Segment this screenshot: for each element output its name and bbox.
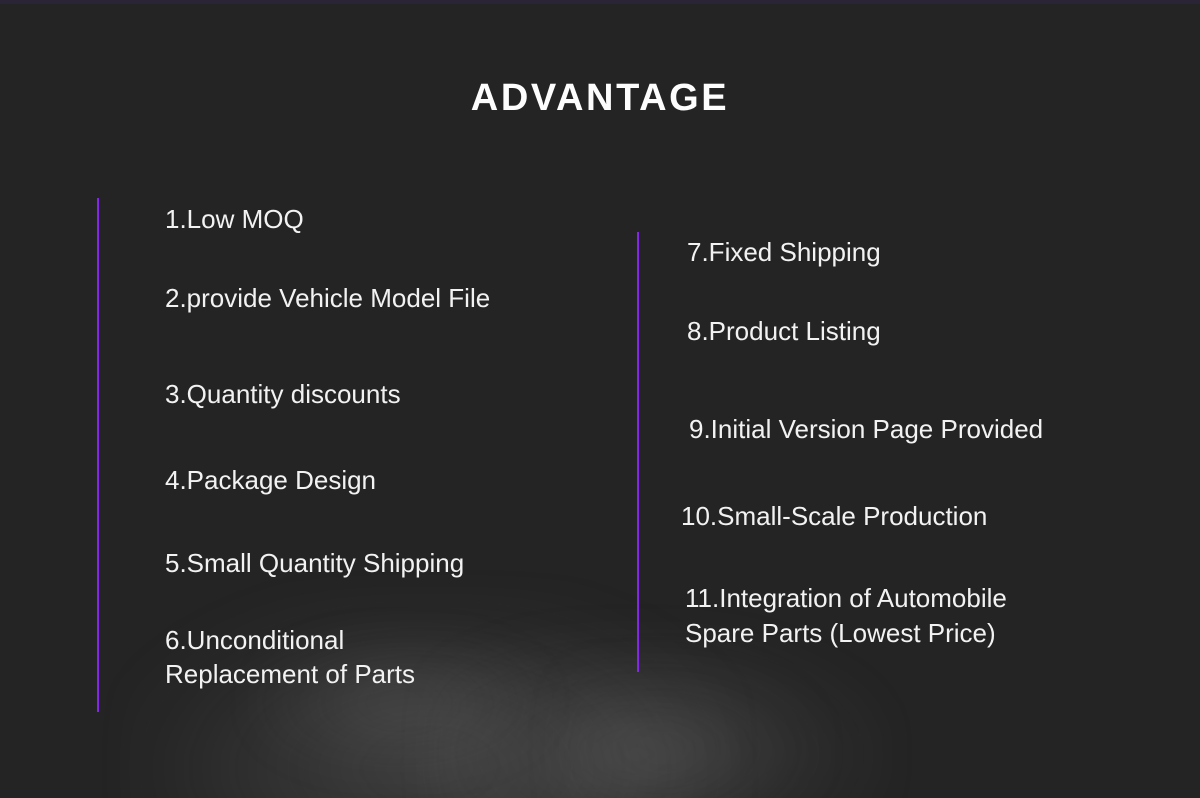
list-right: 7.Fixed Shipping 8.Product Listing 9.Ini… <box>637 235 1177 650</box>
slide-title: ADVANTAGE <box>0 79 1200 117</box>
list-item: 9.Initial Version Page Provided <box>637 412 1177 446</box>
list-item: 1.Low MOQ <box>97 202 617 236</box>
list-item: 8.Product Listing <box>637 314 1177 348</box>
list-item: 10.Small-Scale Production <box>637 499 1177 533</box>
list-item: 2.provide Vehicle Model File <box>97 281 617 315</box>
top-accent-strip <box>0 0 1200 4</box>
list-item: 3.Quantity discounts <box>97 377 617 411</box>
list-item: 11.Integration of Automobile Spare Parts… <box>637 581 1177 650</box>
list-left: 1.Low MOQ 2.provide Vehicle Model File 3… <box>97 202 617 691</box>
list-item: 5.Small Quantity Shipping <box>97 546 617 580</box>
advantage-slide: ADVANTAGE 1.Low MOQ 2.provide Vehicle Mo… <box>0 0 1200 798</box>
list-item: 4.Package Design <box>97 463 617 497</box>
advantage-list-right: 7.Fixed Shipping 8.Product Listing 9.Ini… <box>637 232 1177 650</box>
list-item: 6.Unconditional Replacement of Parts <box>97 623 617 692</box>
advantage-list-left: 1.Low MOQ 2.provide Vehicle Model File 3… <box>97 198 617 691</box>
list-item: 7.Fixed Shipping <box>637 235 1177 269</box>
